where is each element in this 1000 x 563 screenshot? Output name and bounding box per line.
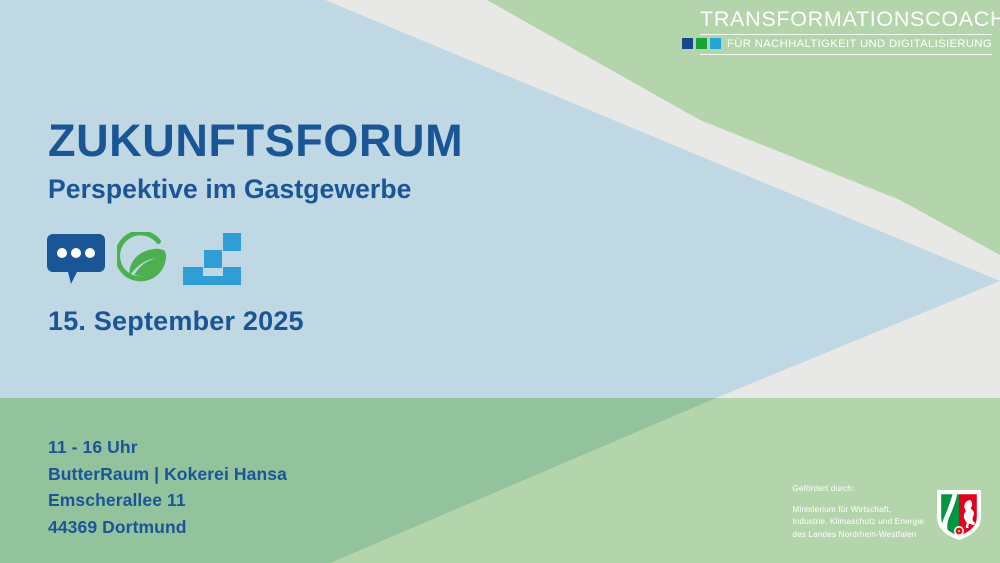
venue-time: 11 - 16 Uhr xyxy=(48,434,287,461)
funding-ministry-line-3: des Landes Nordrhein-Westfalen xyxy=(792,529,924,541)
brand-logo: TRANSFORMATIONSCOACHES FÜR NACHHALTIGKEI… xyxy=(700,8,992,58)
brand-name: TRANSFORMATIONSCOACHES xyxy=(700,8,992,31)
venue-street: Emscherallee 11 xyxy=(48,487,287,514)
leaf-circle-icon xyxy=(117,232,171,286)
headline-block: ZUKUNFTSFORUM Perspektive im Gastgewerbe xyxy=(48,118,648,203)
digital-blocks-icon xyxy=(183,233,245,285)
funding-block: Gefördert durch: Ministerium für Wirtsch… xyxy=(792,483,982,541)
funding-ministry: Ministerium für Wirtschaft, Industrie, K… xyxy=(792,504,924,541)
event-date: 15. September 2025 xyxy=(48,306,304,337)
nrw-coat-of-arms xyxy=(936,489,982,541)
venue-city: 44369 Dortmund xyxy=(48,514,287,541)
brand-squares-group xyxy=(682,38,721,49)
funding-ministry-line-1: Ministerium für Wirtschaft, xyxy=(792,504,924,516)
slide-canvas: TRANSFORMATIONSCOACHES FÜR NACHHALTIGKEI… xyxy=(0,0,1000,563)
speech-bubble-icon xyxy=(47,232,105,286)
funding-lead: Gefördert durch: xyxy=(792,483,924,495)
brand-subrow: FÜR NACHHALTIGKEIT UND DIGITALISIERUNG xyxy=(700,38,992,52)
square-green-icon xyxy=(696,38,707,49)
brand-divider-bottom xyxy=(700,54,992,55)
funding-text: Gefördert durch: Ministerium für Wirtsch… xyxy=(792,483,924,541)
brand-tagline: FÜR NACHHALTIGKEIT UND DIGITALISIERUNG xyxy=(727,38,992,50)
square-blue-icon xyxy=(682,38,693,49)
pictogram-row xyxy=(47,232,245,286)
venue-location: ButterRaum | Kokerei Hansa xyxy=(48,461,287,488)
brand-divider-top xyxy=(700,34,992,35)
funding-ministry-line-2: Industrie, Klimaschutz und Energie xyxy=(792,516,924,528)
page-title: ZUKUNFTSFORUM xyxy=(48,118,648,163)
square-cyan-icon xyxy=(710,38,721,49)
page-subtitle: Perspektive im Gastgewerbe xyxy=(48,176,648,203)
venue-block: 11 - 16 Uhr ButterRaum | Kokerei Hansa E… xyxy=(48,434,287,540)
